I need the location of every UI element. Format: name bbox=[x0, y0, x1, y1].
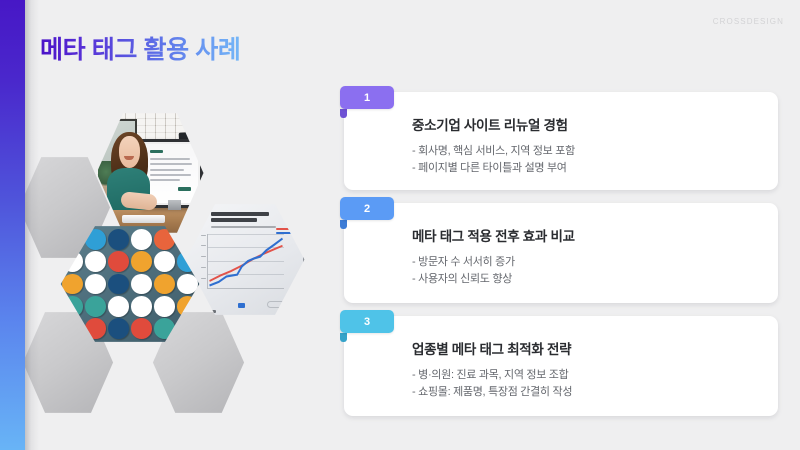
app-icon bbox=[154, 296, 175, 317]
app-icon bbox=[85, 274, 106, 295]
left-accent-bar bbox=[0, 0, 25, 450]
card-title: 메타 태그 적용 전후 효과 비교 bbox=[412, 225, 762, 245]
card-number-badge: 3 bbox=[340, 310, 394, 333]
content-card[interactable]: 1 중소기업 사이트 리뉴얼 경험 - 회사명, 핵심 서비스, 지역 정보 포… bbox=[344, 92, 778, 190]
card-bullet: - 방문자 수 서서히 증가 bbox=[412, 254, 762, 271]
app-icon bbox=[131, 296, 152, 317]
card-bullet: - 페이지별 다른 타이틀과 설명 부여 bbox=[412, 160, 762, 177]
content-card[interactable]: 2 메타 태그 적용 전후 효과 비교 - 방문자 수 서서히 증가 - 사용자… bbox=[344, 203, 778, 303]
badge-tail bbox=[340, 333, 347, 342]
app-icon bbox=[177, 274, 198, 295]
brand-logo-text: CROSSDESIGN bbox=[713, 17, 784, 26]
card-number-badge: 1 bbox=[340, 86, 394, 109]
side-bar-shadow bbox=[25, 0, 39, 450]
app-icon bbox=[108, 318, 129, 339]
app-icon bbox=[131, 274, 152, 295]
card-title: 중소기업 사이트 리뉴얼 경험 bbox=[412, 114, 762, 134]
card-bullet: - 사용자의 신뢰도 향상 bbox=[412, 271, 762, 288]
card-bullet: - 회사명, 핵심 서비스, 지역 정보 포함 bbox=[412, 143, 762, 160]
app-icon bbox=[62, 274, 83, 295]
card-body: 중소기업 사이트 리뉴얼 경험 - 회사명, 핵심 서비스, 지역 정보 포함 … bbox=[412, 114, 762, 177]
card-bullet: - 병·의원: 진료 과목, 지역 정보 조합 bbox=[412, 367, 762, 384]
card-bullet: - 쇼핑몰: 제품명, 특장점 간결히 작성 bbox=[412, 384, 762, 401]
card-body: 메타 태그 적용 전후 효과 비교 - 방문자 수 서서히 증가 - 사용자의 … bbox=[412, 225, 762, 288]
app-icon bbox=[108, 251, 129, 272]
content-card-list: 1 중소기업 사이트 리뉴얼 경험 - 회사명, 핵심 서비스, 지역 정보 포… bbox=[344, 92, 778, 416]
app-icon bbox=[85, 296, 106, 317]
app-icon bbox=[154, 274, 175, 295]
slide-canvas: 메타 태그 활용 사례 CROSSDESIGN bbox=[0, 0, 800, 450]
app-icon bbox=[108, 296, 129, 317]
app-icon bbox=[108, 229, 129, 250]
app-icon bbox=[108, 274, 129, 295]
badge-tail bbox=[340, 109, 347, 118]
app-icon bbox=[131, 318, 152, 339]
card-number-badge: 2 bbox=[340, 197, 394, 220]
page-title: 메타 태그 활용 사례 bbox=[40, 30, 240, 66]
card-title: 업종별 메타 태그 최적화 전략 bbox=[412, 338, 762, 358]
app-icon bbox=[85, 251, 106, 272]
app-icon bbox=[131, 251, 152, 272]
badge-tail bbox=[340, 220, 347, 229]
app-icon bbox=[131, 229, 152, 250]
app-icon bbox=[154, 251, 175, 272]
content-card[interactable]: 3 업종별 메타 태그 최적화 전략 - 병·의원: 진료 과목, 지역 정보 … bbox=[344, 316, 778, 416]
card-body: 업종별 메타 태그 최적화 전략 - 병·의원: 진료 과목, 지역 정보 조합… bbox=[412, 338, 762, 401]
